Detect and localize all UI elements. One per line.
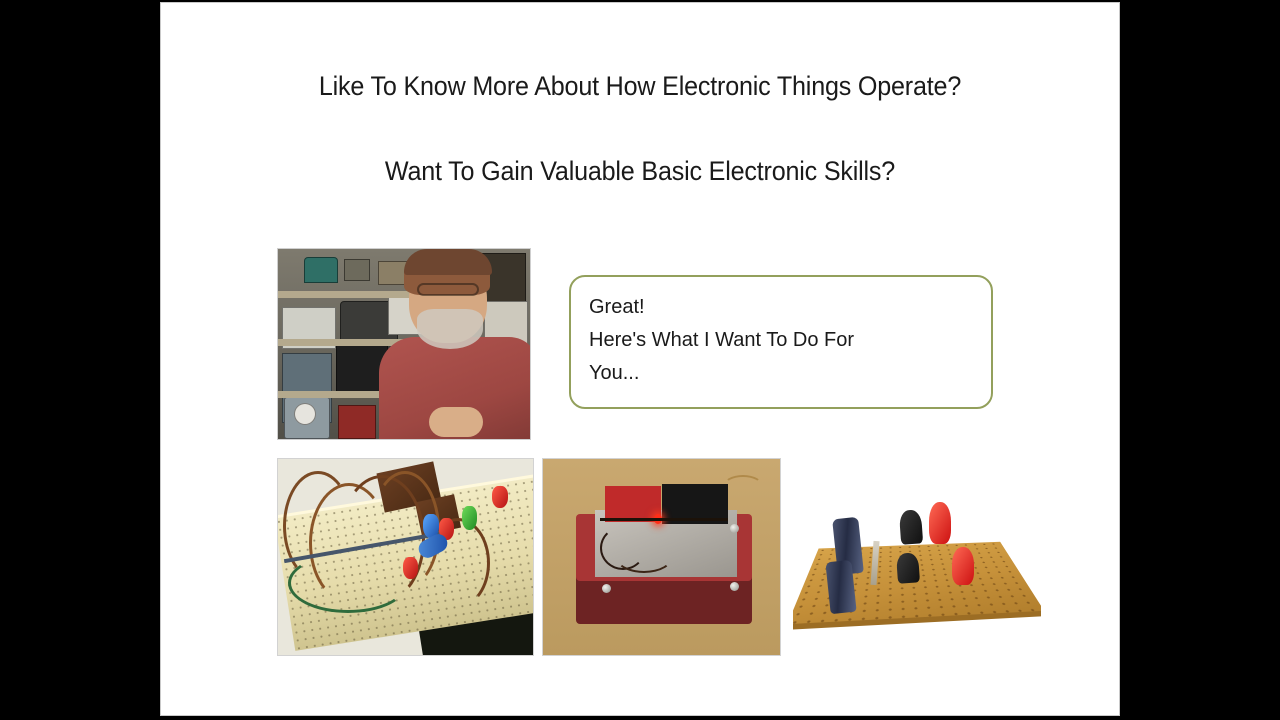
instrument-knob (294, 403, 316, 425)
presenter-photo (278, 249, 530, 439)
led-red (952, 547, 974, 585)
instrument-panel (304, 257, 338, 283)
screw (730, 524, 739, 533)
callout-line-2: Here's What I Want To Do For (589, 324, 991, 357)
led-red (403, 557, 418, 579)
capacitor-electrolytic (825, 560, 856, 614)
red-module (605, 486, 662, 521)
presenter-hands (429, 407, 483, 437)
headline-secondary: Want To Gain Valuable Basic Electronic S… (195, 156, 1086, 187)
transistor (898, 509, 922, 544)
wire-lead (723, 475, 763, 497)
led-green (462, 506, 477, 530)
screen: Like To Know More About How Electronic T… (0, 0, 1280, 720)
perfboard-photo (793, 459, 1041, 655)
callout-line-3: You... (589, 357, 991, 390)
led-red (929, 502, 951, 544)
presenter-cap (404, 249, 492, 275)
project-box-photo (543, 459, 780, 655)
instrument-panel (338, 405, 376, 439)
breadboard-photo (278, 459, 533, 655)
callout-line-1: Great! (589, 291, 991, 324)
callout-box: Great! Here's What I Want To Do For You.… (569, 275, 993, 409)
headline-primary: Like To Know More About How Electronic T… (195, 71, 1086, 102)
wire-lead (600, 518, 728, 521)
presenter-glasses (417, 283, 479, 296)
instrument-panel (344, 259, 370, 281)
presenter-beard (417, 309, 483, 349)
jumper-wire (288, 553, 408, 613)
presentation-slide: Like To Know More About How Electronic T… (160, 2, 1120, 716)
